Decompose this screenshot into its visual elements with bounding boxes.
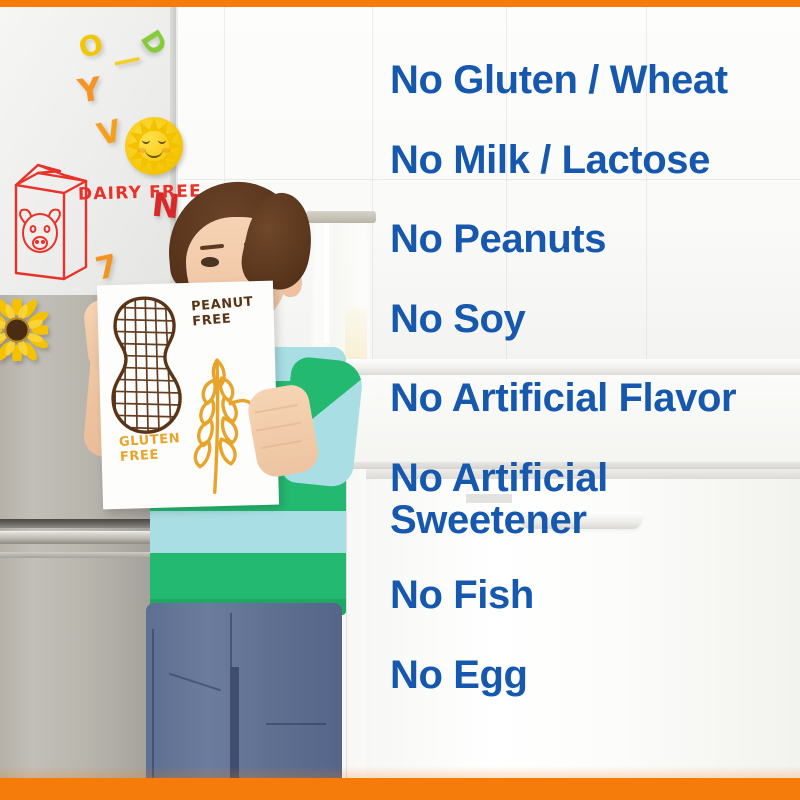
top-orange-bar bbox=[0, 0, 800, 7]
list-item: No Soy bbox=[390, 299, 790, 341]
list-item: No Milk / Lactose bbox=[390, 140, 790, 182]
peanut-free-label: PEANUT FREE bbox=[191, 296, 256, 330]
banner-canvas: O — D Y V N 7 bbox=[0, 0, 800, 800]
list-item: No Fish bbox=[390, 575, 790, 617]
list-item: No Artificial Flavor bbox=[390, 378, 790, 420]
boy-eye-left bbox=[201, 257, 219, 267]
boy-jeans bbox=[146, 603, 342, 778]
bottom-bar-glow bbox=[0, 766, 800, 778]
list-item: No Artificial Sweetener bbox=[390, 458, 790, 541]
list-item: No Gluten / Wheat bbox=[390, 60, 790, 102]
bottom-orange-bar bbox=[0, 778, 800, 800]
list-item: No Egg bbox=[390, 655, 790, 697]
gluten-free-label: GLUTEN FREE bbox=[119, 432, 182, 465]
boy-jeans-leg-gap bbox=[230, 667, 239, 778]
allergen-free-list: No Gluten / Wheat No Milk / Lactose No P… bbox=[390, 60, 790, 734]
held-poster: PEANUT FREE GLUTEN FREE bbox=[97, 281, 279, 510]
list-item: No Peanuts bbox=[390, 219, 790, 261]
